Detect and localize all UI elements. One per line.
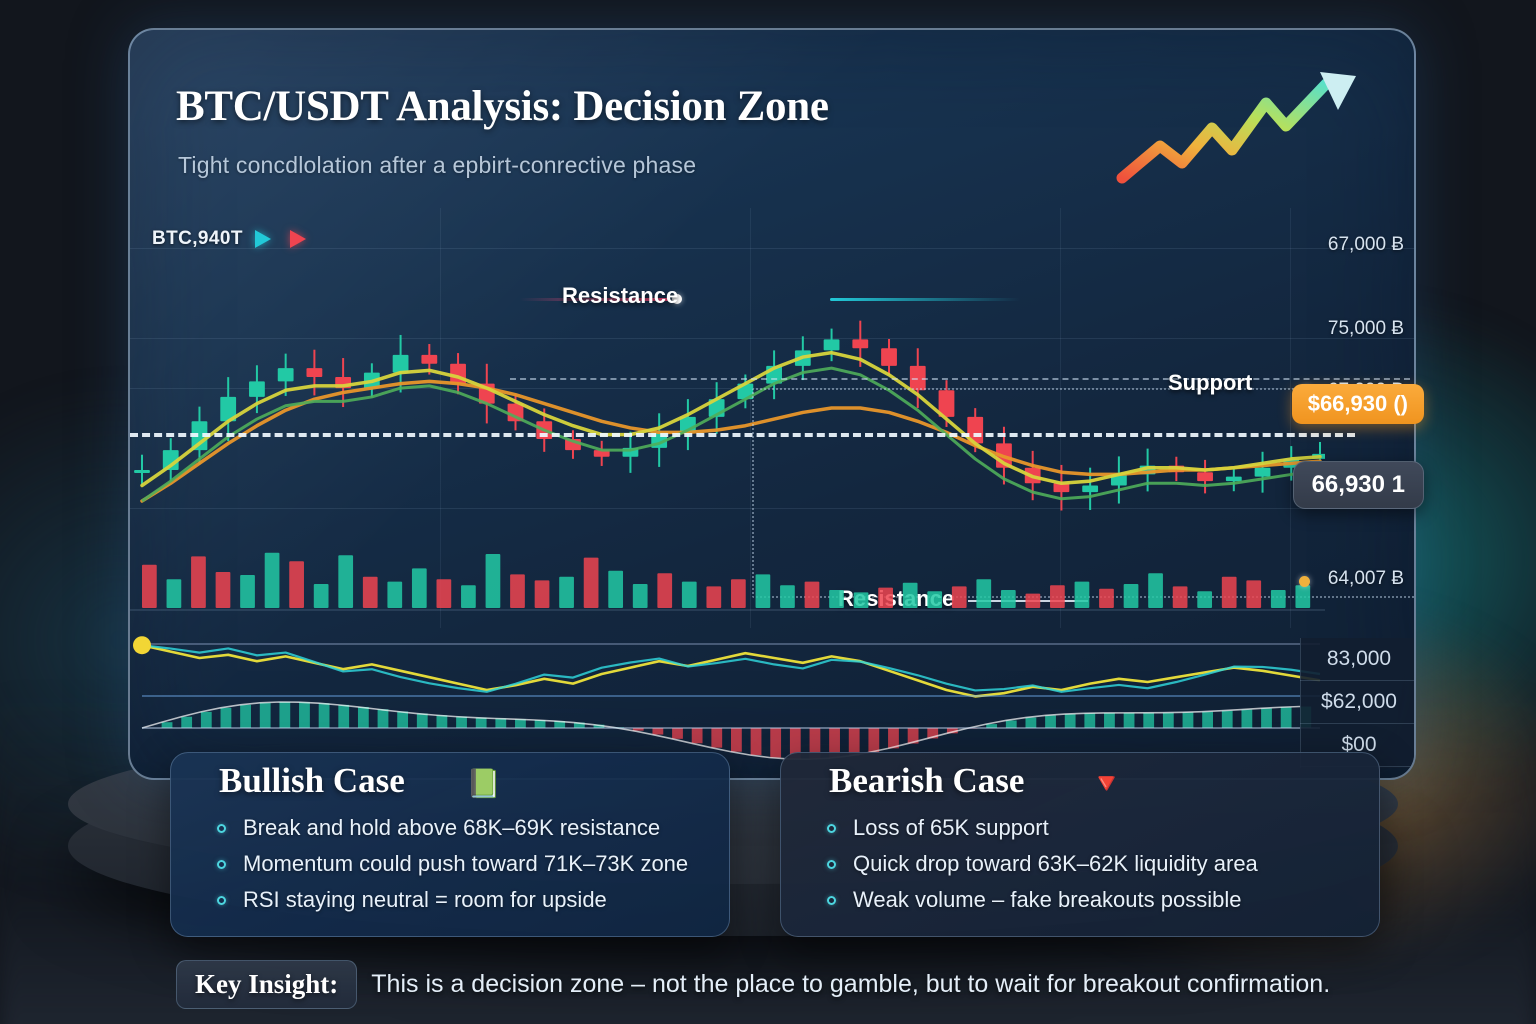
key-insight-text: This is a decision zone – not the place … <box>371 970 1330 999</box>
bullet-dot-icon <box>827 824 836 833</box>
bullet-dot-icon <box>217 896 226 905</box>
bearish-case-title: Bearish Case <box>829 761 1024 801</box>
bullish-bullet-2: RSI staying neutral = room for upside <box>243 887 607 913</box>
bearish-case-card: Bearish Case 🔻 Loss of 65K support Quick… <box>780 752 1380 937</box>
price-tick-1: 75,000 Ƀ <box>1328 318 1404 340</box>
last-price-badge[interactable]: 66,930 1 <box>1293 461 1424 509</box>
chart-screen: BTC/USDT Analysis: Decision Zone Tight c… <box>128 28 1416 780</box>
bullish-bullet-0: Break and hold above 68K–69K resistance <box>243 815 660 841</box>
bullish-bullet-1: Momentum could push toward 71K–73K zone <box>243 851 688 877</box>
bearish-bullet-2: Weak volume – fake breakouts possible <box>853 887 1241 913</box>
bullish-emoji-icon: 📗 <box>466 767 501 800</box>
low-tick-dot <box>1299 576 1310 587</box>
bearish-bullet-list: Loss of 65K support Quick drop toward 63… <box>827 815 1258 923</box>
list-item: Quick drop toward 63K–62K liquidity area <box>827 851 1258 877</box>
page-title: BTC/USDT Analysis: Decision Zone <box>176 82 829 131</box>
bearish-bullet-0: Loss of 65K support <box>853 815 1049 841</box>
current-price-badge[interactable]: $66,930 () <box>1292 384 1424 424</box>
list-item: Weak volume – fake breakouts possible <box>827 887 1258 913</box>
rising-arrow-icon <box>1114 58 1384 208</box>
macd-chart <box>130 208 1416 768</box>
chart-plot-area: BTC,940T Resistance Support Resistance <box>130 208 1416 768</box>
list-item: RSI staying neutral = room for upside <box>217 887 688 913</box>
list-item: Momentum could push toward 71K–73K zone <box>217 851 688 877</box>
bullish-case-title: Bullish Case <box>219 761 405 801</box>
list-item: Break and hold above 68K–69K resistance <box>217 815 688 841</box>
price-tick-3: 64,007 Ƀ <box>1328 568 1404 590</box>
bearish-emoji-icon: 🔻 <box>1089 767 1124 800</box>
bullet-dot-icon <box>217 860 226 869</box>
key-insight-row: Key Insight: This is a decision zone – n… <box>176 960 1330 1009</box>
list-item: Loss of 65K support <box>827 815 1258 841</box>
bullet-dot-icon <box>217 824 226 833</box>
key-insight-chip: Key Insight: <box>176 960 357 1009</box>
bullish-bullet-list: Break and hold above 68K–69K resistance … <box>217 815 688 923</box>
bullet-dot-icon <box>827 860 836 869</box>
bullish-case-card: Bullish Case 📗 Break and hold above 68K–… <box>170 752 730 937</box>
bullet-dot-icon <box>827 896 836 905</box>
bearish-bullet-1: Quick drop toward 63K–62K liquidity area <box>853 851 1258 877</box>
price-tick-0: 67,000 Ƀ <box>1328 234 1404 256</box>
page-subtitle: Tight concdlolation after a epbirt-conre… <box>178 152 696 179</box>
